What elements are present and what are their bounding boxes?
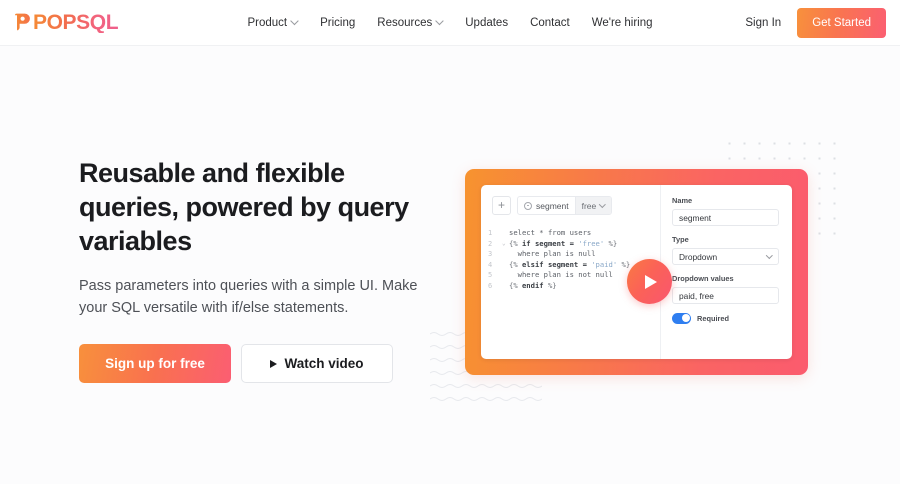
nav-label: Pricing <box>320 17 355 29</box>
code-line: 3 where plan is null <box>488 249 660 260</box>
product-screenshot-card: + segment free 1select * f <box>481 185 792 359</box>
dropdown-values-input-value: paid, free <box>679 291 714 301</box>
line-number: 5 <box>488 270 502 281</box>
line-number: 1 <box>488 228 502 239</box>
line-number: 6 <box>488 281 502 292</box>
nav-item-resources[interactable]: Resources <box>377 17 443 29</box>
type-field-label: Type <box>672 235 779 244</box>
nav-item-updates[interactable]: Updates <box>465 17 508 29</box>
add-variable-button[interactable]: + <box>492 196 511 215</box>
required-toggle[interactable] <box>672 313 691 324</box>
variable-settings-pane: Name segment Type Dropdown Dropdown valu… <box>661 185 792 359</box>
required-toggle-row: Required <box>672 313 779 324</box>
nav-label: Contact <box>530 17 570 29</box>
nav-label: Product <box>247 17 287 29</box>
required-toggle-label: Required <box>697 314 729 323</box>
chevron-down-icon <box>291 18 298 25</box>
code-text: {% endif %} <box>509 281 557 292</box>
nav-item-contact[interactable]: Contact <box>530 17 570 29</box>
type-select[interactable]: Dropdown <box>672 248 779 265</box>
logo-text: POPSQL <box>33 12 118 33</box>
chevron-down-icon <box>436 18 443 25</box>
name-input[interactable]: segment <box>672 209 779 226</box>
line-number: 4 <box>488 260 502 271</box>
code-text: {% if segment = 'free' %} <box>509 239 617 250</box>
code-text: select * from users <box>509 228 591 239</box>
line-number: 3 <box>488 249 502 260</box>
variable-name-label: segment <box>536 201 569 211</box>
sign-up-for-free-button[interactable]: Sign up for free <box>79 344 231 383</box>
speech-bubble-p-icon <box>14 13 31 32</box>
site-header: POPSQL Product Pricing Resources Updates… <box>0 0 900 46</box>
code-text: where plan is not null <box>509 270 613 281</box>
nav-item-product[interactable]: Product <box>247 17 298 29</box>
chevron-down-icon <box>767 254 772 259</box>
sign-in-link[interactable]: Sign In <box>745 17 781 29</box>
name-input-value: segment <box>679 213 711 223</box>
nav-label: Resources <box>377 17 432 29</box>
hero-subtitle: Pass parameters into queries with a simp… <box>79 275 424 319</box>
code-text: {% elsif segment = 'paid' %} <box>509 260 630 271</box>
hero-copy: Reusable and flexible queries, powered b… <box>79 156 424 383</box>
hero-section: Reusable and flexible queries, powered b… <box>0 46 900 484</box>
play-circle-icon[interactable] <box>627 259 672 304</box>
editor-toolbar: + segment free <box>481 196 660 225</box>
main-nav: Product Pricing Resources Updates Contac… <box>247 17 652 29</box>
code-line: 1select * from users <box>488 228 660 239</box>
variable-value-dropdown[interactable]: free <box>575 197 612 214</box>
product-screenshot-frame: + segment free 1select * f <box>465 169 808 375</box>
line-number: 2 <box>488 239 502 250</box>
variable-chip-name: segment <box>518 201 575 211</box>
nav-label: Updates <box>465 17 508 29</box>
dropdown-values-input[interactable]: paid, free <box>672 287 779 304</box>
nav-label: We're hiring <box>592 17 653 29</box>
chevron-down-icon <box>600 203 605 208</box>
variable-value-label: free <box>582 201 597 211</box>
logo[interactable]: POPSQL <box>14 12 118 33</box>
nav-item-were-hiring[interactable]: We're hiring <box>592 17 653 29</box>
code-line: 2⌄{% if segment = 'free' %} <box>488 239 660 250</box>
target-circle-icon <box>524 202 532 210</box>
dropdown-values-field-label: Dropdown values <box>672 274 779 283</box>
nav-item-pricing[interactable]: Pricing <box>320 17 355 29</box>
get-started-button[interactable]: Get Started <box>797 8 886 38</box>
variable-chip: segment free <box>517 196 612 215</box>
name-field-label: Name <box>672 196 779 205</box>
code-text: where plan is null <box>509 249 596 260</box>
play-triangle-icon <box>270 360 277 368</box>
code-fold-toggle[interactable]: ⌄ <box>502 239 509 250</box>
hero-cta-row: Sign up for free Watch video <box>79 344 424 383</box>
watch-video-label: Watch video <box>284 356 363 371</box>
page-title: Reusable and flexible queries, powered b… <box>79 156 424 258</box>
type-select-value: Dropdown <box>679 252 717 262</box>
watch-video-button[interactable]: Watch video <box>241 344 393 383</box>
header-actions: Sign In Get Started <box>745 8 886 38</box>
